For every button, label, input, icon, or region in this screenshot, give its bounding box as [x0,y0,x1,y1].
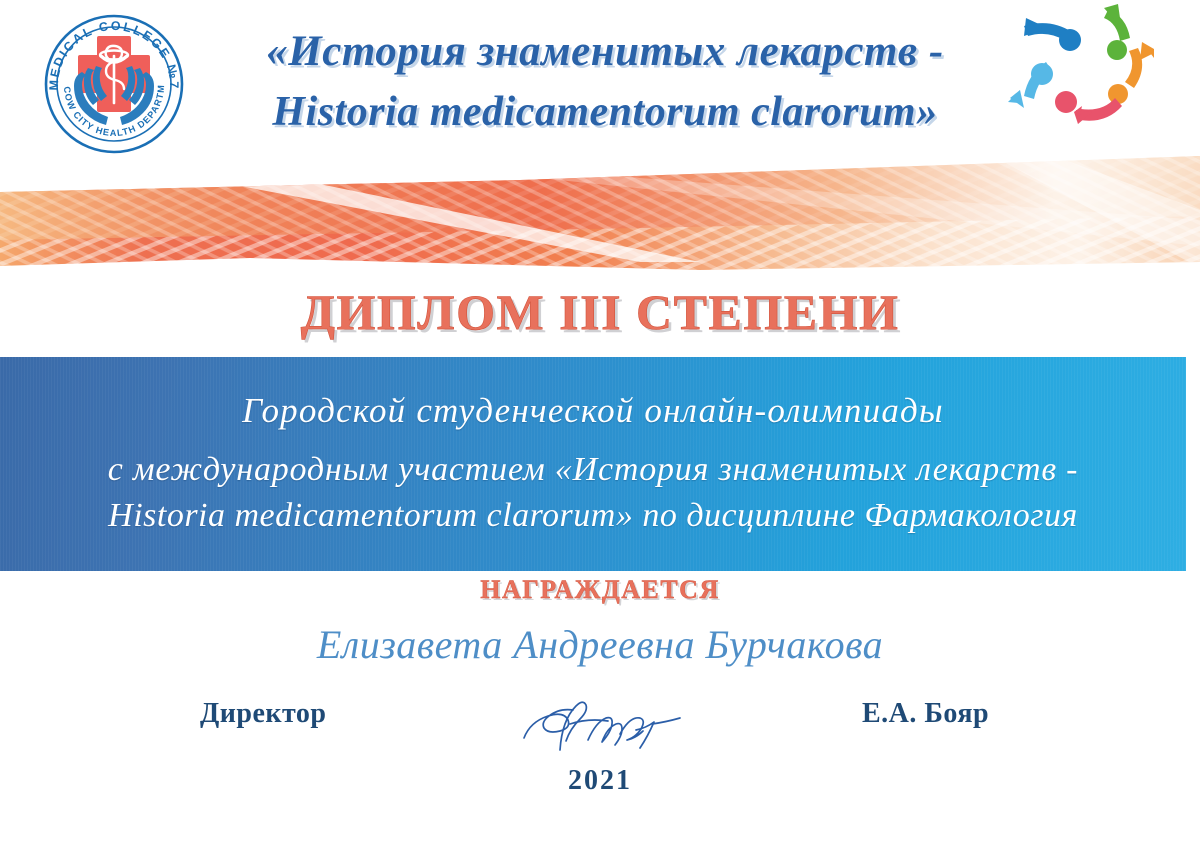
award-word: НАГРАЖДАЕТСЯ [0,575,1200,605]
diploma-title: ДИПЛОМ III СТЕПЕНИ [0,284,1200,340]
figure-green-icon [1104,4,1130,60]
orange-wave-band [0,150,1200,275]
event-description-line-3: Historia medicamentorum clarorum» по дис… [0,495,1186,537]
signatory-title: Директор [200,698,327,730]
event-title: «История знаменитых лекарств - Historia … [200,22,1010,150]
figure-lightblue-icon [1008,62,1053,108]
certificate-page: MEDICAL COLLEGE №7 MOSCOW CITY HEALTH DE… [0,0,1200,841]
issue-year: 2021 [0,765,1200,797]
medical-college-seal: MEDICAL COLLEGE №7 MOSCOW CITY HEALTH DE… [38,6,190,158]
signatory-name: Е.А. Бояр [862,698,989,730]
recipient-name: Елизавета Андреевна Бурчакова [0,621,1200,668]
certificate-header: MEDICAL COLLEGE №7 MOSCOW CITY HEALTH DE… [0,0,1200,165]
event-title-line-2: Historia medicamentorum clarorum» [200,82,1010,142]
people-circle-logo [1002,2,1198,162]
event-description-line-2: с международным участием «История знамен… [0,449,1186,491]
event-title-line-1: «История знаменитых лекарств - [200,22,1010,82]
handwritten-signature [512,694,712,764]
figure-blue-icon [1024,18,1081,51]
blue-gradient-band: Городской студенческой онлайн-олимпиады … [0,357,1186,571]
event-description-line-1: Городской студенческой онлайн-олимпиады [0,391,1186,431]
